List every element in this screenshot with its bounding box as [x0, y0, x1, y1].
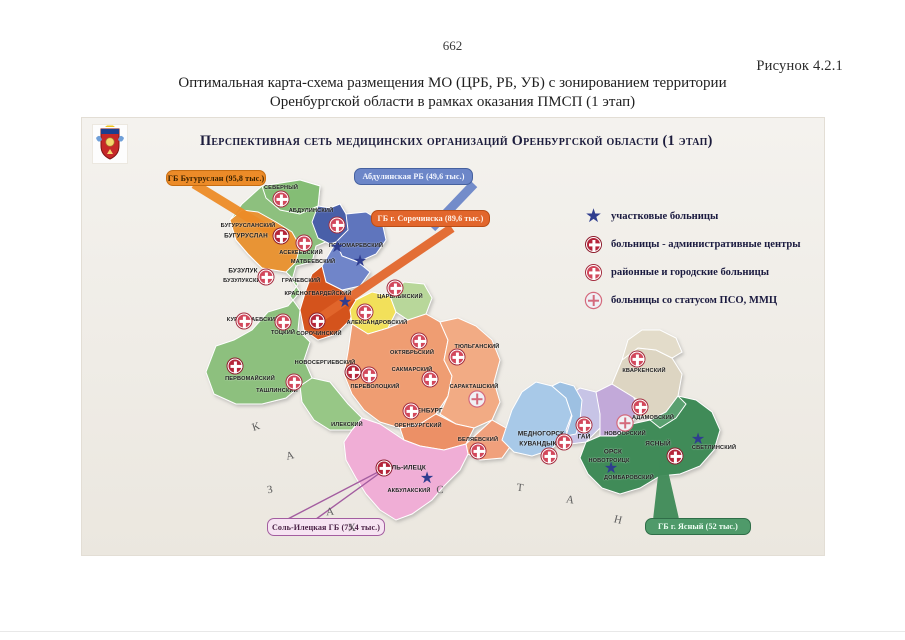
- district-label: САРАКТАШСКИЙ: [450, 384, 499, 390]
- map-marker-cross-circle-icon: [237, 314, 252, 329]
- district-label: ГРАЧЕВСКИЙ: [282, 278, 321, 284]
- map-marker-cross-circle-icon: [471, 444, 486, 459]
- cross-circle-icon: [358, 305, 373, 320]
- cross-circle-icon: [297, 236, 312, 251]
- cross-circle-outline-icon: [585, 292, 602, 309]
- district-label: НОВООРСКИЙ: [604, 431, 646, 437]
- map-marker-cross-circle-icon: [297, 236, 312, 251]
- cross-circle-icon: [237, 314, 252, 329]
- district-label: СЕВЕРНЫЙ: [264, 185, 298, 191]
- map-marker-cross-circle-icon: [633, 400, 648, 415]
- map-marker-cross-circle-icon: [346, 365, 361, 380]
- cross-circle-icon: [585, 236, 602, 253]
- caption-line-2: Оренбургской области в рамках оказания П…: [0, 93, 905, 112]
- cross-circle-icon: [633, 400, 648, 415]
- cross-circle-icon: [471, 444, 486, 459]
- district-label: АЛЕКСАНДРОВСКИЙ: [347, 320, 408, 326]
- map-marker-cross-circle-icon: [450, 350, 465, 365]
- figure-caption: Оптимальная карта-схема размещения МО (Ц…: [0, 74, 905, 112]
- callout-abdulinskaya-rb[interactable]: Абдулинская РБ (49,6 тыс.): [354, 168, 473, 185]
- cross-circle-icon: [450, 350, 465, 365]
- cross-circle-icon: [618, 416, 633, 431]
- legend-label: больницы - административные центры: [611, 239, 801, 250]
- cross-circle-icon: [259, 270, 274, 285]
- map-marker-star-icon: ★: [420, 471, 434, 487]
- map-marker-cross-circle-icon: [404, 404, 419, 419]
- district-label: МАТВЕЕВСКИЙ: [291, 259, 335, 265]
- map-figure: Перспективная сеть медицинских организац…: [82, 118, 824, 555]
- map-marker-cross-circle-icon: [259, 270, 274, 285]
- callout-sol-iletskaya-gb[interactable]: Соль-Илецкая ГБ (75,4 тыс.): [267, 518, 385, 536]
- district-label: ОРСК: [604, 449, 622, 456]
- map-marker-star-icon: ★: [691, 432, 705, 448]
- figure-label: Рисунок 4.2.1: [756, 58, 843, 75]
- map-marker-cross-circle-icon: [618, 416, 633, 431]
- legend-item-uchastkovye: ★ участковые больницы: [585, 205, 820, 228]
- cross-circle-icon: [542, 449, 557, 464]
- cross-circle-icon: [377, 461, 392, 476]
- district-label: КУРМАНАЕВСКИЙ: [227, 317, 279, 323]
- cross-circle-icon: [276, 315, 291, 330]
- cross-circle-icon: [310, 314, 325, 329]
- cross-circle-icon: [630, 352, 645, 367]
- district-label: ГАЙ: [578, 434, 591, 441]
- district-label: БУЗУЛУК: [228, 268, 257, 275]
- district-label: ПЕРВОМАЙСКИЙ: [225, 376, 275, 382]
- callout-gb-sorochinsk[interactable]: ГБ г. Сорочинска (89,6 тыс.): [371, 210, 490, 227]
- cross-circle-icon: [585, 264, 602, 281]
- cross-circle-icon: [470, 392, 485, 407]
- map-marker-cross-circle-icon: [310, 314, 325, 329]
- map-marker-cross-circle-icon: [423, 372, 438, 387]
- caption-line-1: Оптимальная карта-схема размещения МО (Ц…: [0, 74, 905, 93]
- map-marker-cross-circle-icon: [287, 375, 302, 390]
- map-marker-star-icon: ★: [338, 295, 352, 311]
- cross-circle-icon: [287, 375, 302, 390]
- district-label: БУГУРУСЛАН: [224, 233, 268, 240]
- map-marker-cross-circle-icon: [557, 435, 572, 450]
- cross-circle-icon: [404, 404, 419, 419]
- map-marker-star-icon: ★: [330, 240, 344, 256]
- legend-item-pso-mmc: больницы со статусом ПСО, ММЦ: [585, 289, 820, 312]
- cross-circle-icon: [274, 229, 289, 244]
- map-marker-cross-circle-icon: [470, 392, 485, 407]
- map-marker-cross-circle-icon: [276, 315, 291, 330]
- district-label: АДАМОВСКИЙ: [632, 415, 674, 421]
- cross-circle-icon: [330, 218, 345, 233]
- district-label: БЕЛЯЕВСКИЙ: [458, 437, 498, 443]
- legend-item-admin-centers: больницы - административные центры: [585, 233, 820, 256]
- legend-label: участковые больницы: [611, 211, 718, 222]
- legend-label: районные и городские больницы: [611, 267, 769, 278]
- map-marker-star-icon: ★: [604, 461, 618, 477]
- map-marker-cross-circle-icon: [377, 461, 392, 476]
- cross-circle-icon: [577, 418, 592, 433]
- cross-circle-icon: [412, 334, 427, 349]
- map-marker-cross-circle-icon: [577, 418, 592, 433]
- district-label: ТОЦКИЙ: [271, 330, 295, 336]
- map-marker-cross-circle-icon: [358, 305, 373, 320]
- cross-circle-icon: [228, 359, 243, 374]
- cross-circle-icon: [362, 368, 377, 383]
- callout-gb-buguruslan[interactable]: ГБ Бугуруслан (95,8 тыс.): [166, 170, 266, 186]
- page-number: 662: [0, 38, 905, 54]
- border-country-letter: З: [266, 484, 274, 497]
- map-marker-cross-circle-icon: [542, 449, 557, 464]
- legend-label: больницы со статусом ПСО, ММЦ: [611, 295, 777, 306]
- map-marker-cross-circle-icon: [412, 334, 427, 349]
- legend-item-rayon-city: районные и городские больницы: [585, 261, 820, 284]
- cross-circle-icon: [346, 365, 361, 380]
- map-marker-cross-circle-icon: [668, 449, 683, 464]
- map-marker-cross-circle-icon: [630, 352, 645, 367]
- district-label: ПЕРЕВОЛОЦКИЙ: [351, 384, 400, 390]
- district-label: ИЛЕКСКИЙ: [331, 422, 363, 428]
- cross-circle-icon: [274, 192, 289, 207]
- district-label: АСЕКЕЕВСКИЙ: [279, 250, 323, 256]
- district-label: ЯСНЫЙ: [645, 441, 670, 448]
- page-footer-rule: [0, 631, 905, 632]
- district-label: СОРОЧИНСКИЙ: [296, 331, 341, 337]
- star-icon: ★: [585, 208, 602, 225]
- border-country-letter: А: [325, 506, 334, 519]
- map-marker-cross-circle-icon: [330, 218, 345, 233]
- map-marker-cross-circle-icon: [228, 359, 243, 374]
- cross-circle-icon: [423, 372, 438, 387]
- district-label: ОРЕНБУРГСКИЙ: [394, 423, 441, 429]
- district-label: БУГУРУСЛАНСКИЙ: [221, 223, 276, 229]
- map-marker-star-icon: ★: [353, 254, 367, 270]
- map-marker-cross-circle-icon: [274, 192, 289, 207]
- border-country-letter: Х: [348, 522, 356, 534]
- cross-circle-icon: [668, 449, 683, 464]
- border-country-letter: С: [436, 484, 444, 496]
- border-country-letter: Т: [516, 482, 524, 495]
- district-label: КВАРКЕНСКИЙ: [622, 368, 665, 374]
- district-label: ОКТЯБРЬСКИЙ: [390, 350, 434, 356]
- cross-circle-icon: [557, 435, 572, 450]
- district-label: КУВАНДЫК: [519, 441, 556, 448]
- map-marker-cross-circle-icon: [388, 281, 403, 296]
- callout-gb-yasny[interactable]: ГБ г. Ясный (52 тыс.): [645, 518, 751, 535]
- map-legend: ★ участковые больницы больницы - админис…: [585, 205, 820, 317]
- district-label: АКБУЛАКСКИЙ: [387, 488, 430, 494]
- map-marker-cross-circle-icon: [274, 229, 289, 244]
- map-marker-cross-circle-icon: [362, 368, 377, 383]
- cross-circle-icon: [388, 281, 403, 296]
- district-label: АБДУЛИНСКИЙ: [289, 208, 334, 214]
